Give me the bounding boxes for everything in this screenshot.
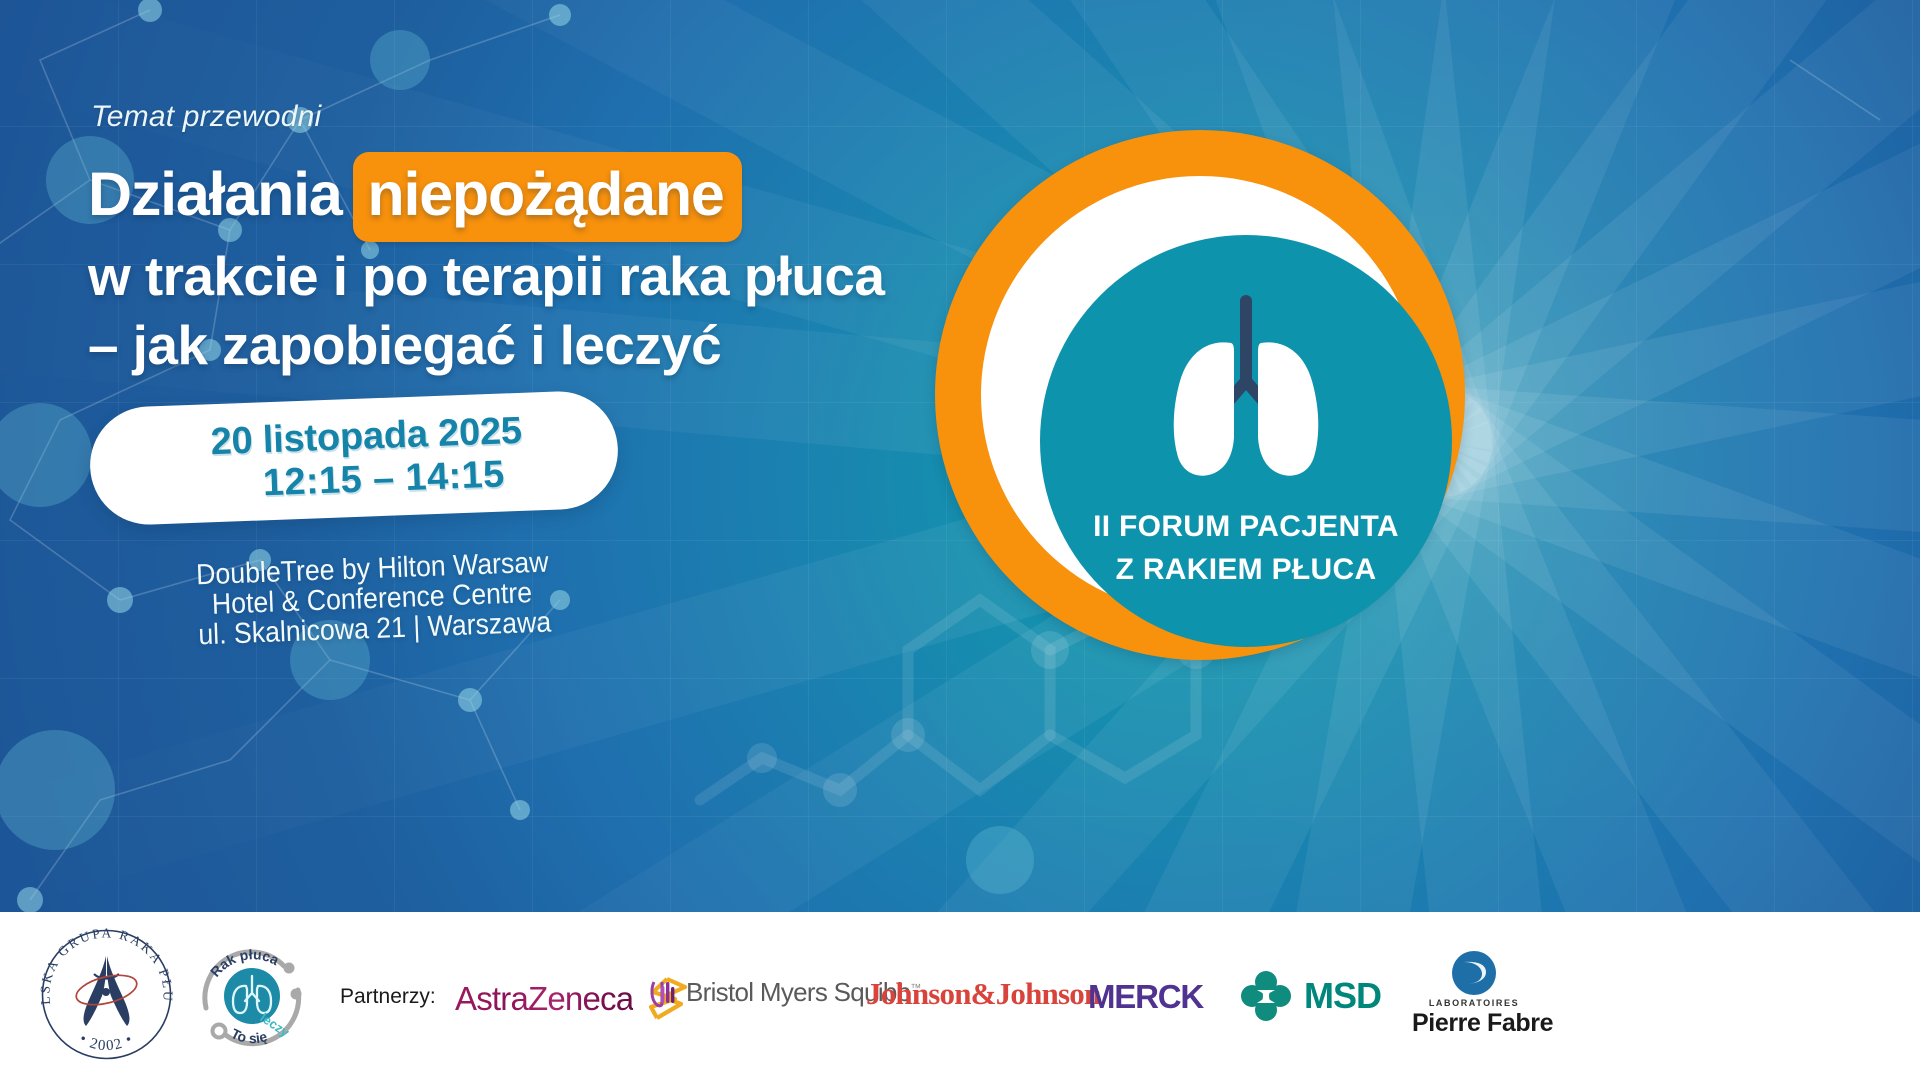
rakpluca-bottom-text: To się <box>229 1025 269 1046</box>
pgrp-year: • 2002 • <box>76 1031 137 1054</box>
johnson-and-johnson-logo[interactable]: Johnson&Johnson <box>866 976 1100 1012</box>
badge-teal-disc: II FORUM PACJENTA Z RAKIEM PŁUCA <box>1040 235 1452 647</box>
bms-flame-icon <box>650 976 677 1008</box>
headline-line-1-plain: Działania <box>88 160 357 228</box>
astrazeneca-wordmark: AstraZeneca <box>455 980 633 1018</box>
svg-text:• 2002 •: • 2002 • <box>76 1031 137 1054</box>
badge-white-ring: II FORUM PACJENTA Z RAKIEM PŁUCA <box>981 176 1419 614</box>
partners-footer: POLSKA GRUPA RAKA PŁUCA • 2002 • <box>0 912 1920 1080</box>
msd-logo[interactable]: MSD <box>1240 970 1381 1022</box>
headline-line-2: w trakcie i po terapii raka płuca <box>88 242 988 311</box>
badge-title: II FORUM PACJENTA Z RAKIEM PŁUCA <box>1064 505 1428 591</box>
lungs-icon <box>1136 295 1356 485</box>
rak-pluca-to-sie-leczy-logo[interactable]: Rak płuca To się leczy <box>192 932 312 1057</box>
poster-canvas: Temat przewodni Działania niepożądane w … <box>0 0 1920 1080</box>
headline-line-1: Działania niepożądane <box>88 152 988 242</box>
msd-flower-icon <box>1240 970 1292 1022</box>
headline-line-3: – jak zapobiegać i leczyć <box>88 311 988 380</box>
kicker-label: Temat przewodni <box>91 100 321 134</box>
forum-logo-badge: II FORUM PACJENTA Z RAKIEM PŁUCA <box>935 80 1920 720</box>
pierre-fabre-laboratoires-label: LABORATOIRES <box>1412 998 1536 1008</box>
partners-label: Partnerzy: <box>340 985 436 1009</box>
hero-banner: Temat przewodni Działania niepożądane w … <box>0 0 1920 912</box>
badge-title-line-2: Z RAKIEM PŁUCA <box>1064 548 1428 591</box>
pierre-fabre-wordmark: Pierre Fabre <box>1412 1009 1536 1038</box>
date-time-badge: 20 listopada 2025 12:15 – 14:15 <box>88 389 620 526</box>
badge-title-line-1: II FORUM PACJENTA <box>1064 505 1428 548</box>
venue-address: DoubleTree by Hilton Warsaw Hotel & Conf… <box>181 549 564 650</box>
svg-text:To się: To się <box>229 1025 269 1046</box>
pierre-fabre-logo[interactable]: LABORATOIRES Pierre Fabre <box>1412 950 1536 1038</box>
polska-grupa-raka-pluca-logo[interactable]: POLSKA GRUPA RAKA PŁUCA • 2002 • <box>34 922 179 1067</box>
merck-logo[interactable]: MERCK <box>1088 978 1203 1016</box>
page-title: Działania niepożądane w trakcie i po ter… <box>88 152 988 380</box>
merck-wordmark: MERCK <box>1088 978 1203 1015</box>
headline-highlight: niepożądane <box>353 152 741 242</box>
johnson-wordmark: Johnson&Johnson <box>866 976 1100 1011</box>
msd-wordmark: MSD <box>1304 975 1381 1017</box>
pierre-fabre-circle-icon <box>1451 950 1497 996</box>
badge-orange-ring: II FORUM PACJENTA Z RAKIEM PŁUCA <box>935 130 1465 660</box>
